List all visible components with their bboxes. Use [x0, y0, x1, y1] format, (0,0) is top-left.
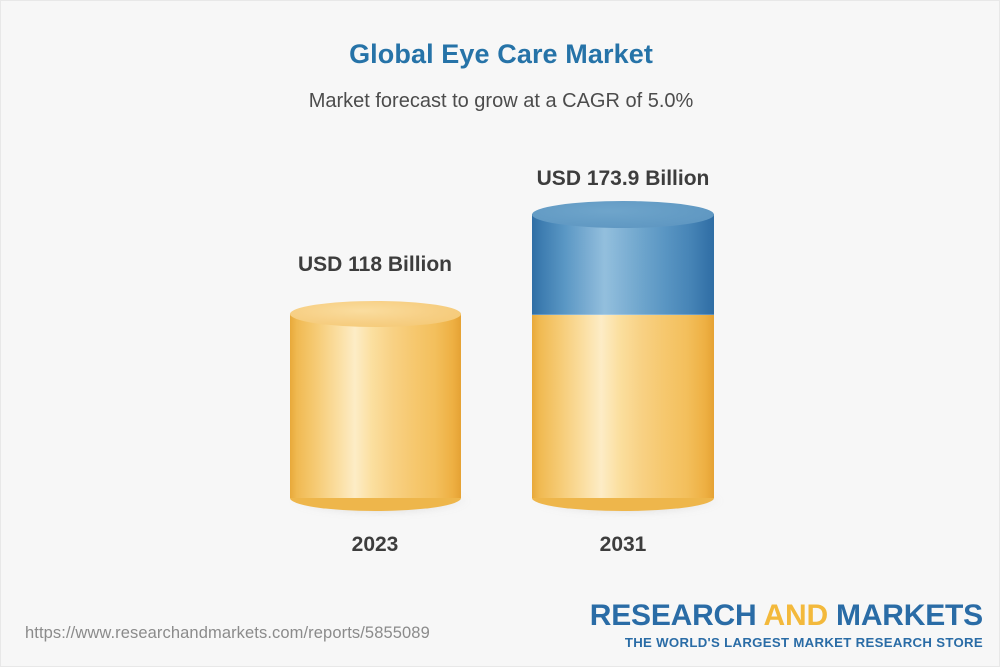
cylinder-growth-segment-2031: [532, 214, 714, 315]
bar-value-label-2023: USD 118 Billion: [225, 253, 525, 277]
logo-tagline: THE WORLD'S LARGEST MARKET RESEARCH STOR…: [590, 636, 983, 649]
cylinder-segment-seam-2031: [532, 314, 714, 315]
source-url[interactable]: https://www.researchandmarkets.com/repor…: [25, 624, 430, 643]
cylinder-base-segment-2031: [532, 314, 714, 498]
logo-text-research: RESEARCH: [590, 599, 764, 632]
logo-text-and: AND: [764, 599, 828, 632]
cylinder-body-2023: [290, 314, 461, 498]
chart-canvas: Global Eye Care Market Market forecast t…: [0, 0, 1000, 667]
logo-text-markets: MARKETS: [828, 599, 983, 632]
bar-value-label-2031: USD 173.9 Billion: [473, 167, 773, 191]
bar-category-label-2031: 2031: [473, 533, 773, 557]
cylinder-top-2023: [290, 301, 461, 327]
plot-area: USD 118 Billion 2023 USD 173.9 Billion: [1, 1, 1000, 667]
logo-wordmark: RESEARCH AND MARKETS: [590, 601, 983, 631]
brand-logo: RESEARCH AND MARKETS THE WORLD'S LARGEST…: [590, 601, 983, 649]
cylinder-top-2031: [532, 201, 714, 228]
